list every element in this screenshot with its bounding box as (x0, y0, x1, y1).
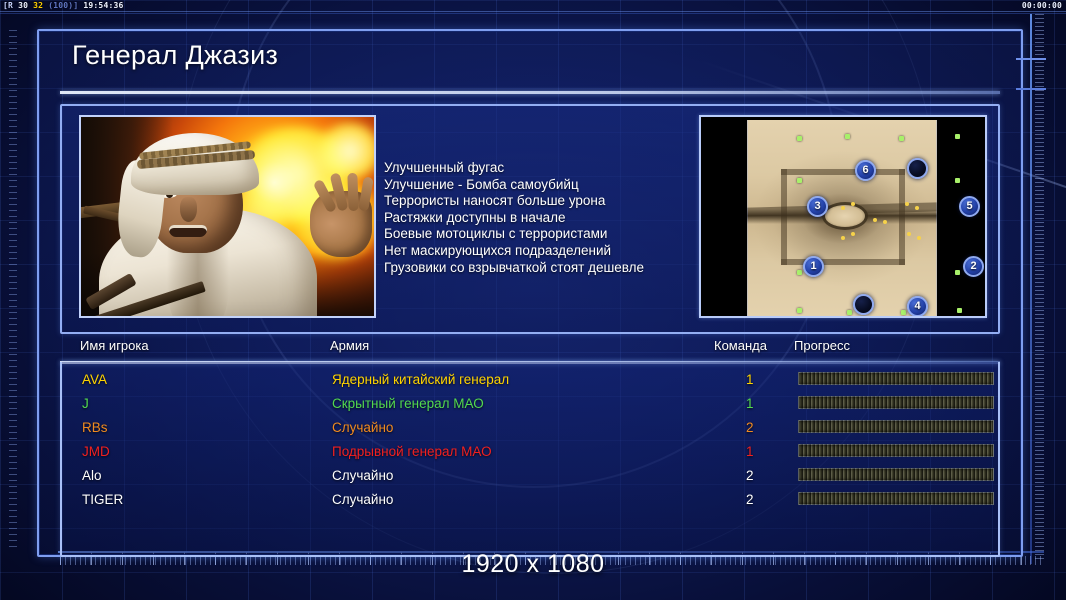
mouth (169, 225, 207, 237)
minimap-supply-dock (901, 310, 906, 315)
player-name: JMD (82, 440, 110, 464)
minimap-start-position[interactable]: 2 (963, 256, 984, 277)
minimap-oil-derrick (883, 220, 887, 224)
minimap-supply-dock (845, 134, 850, 139)
minimap-supply-dock (899, 136, 904, 141)
general-info-panel: Улучшенный фугас Улучшение - Бомба самоу… (60, 104, 1000, 334)
nose (180, 197, 197, 222)
match-minimap: 635124 (699, 115, 987, 318)
minimap-start-position[interactable] (853, 294, 874, 315)
ability-line: Грузовики со взрывчаткой стоят дешевле (384, 260, 720, 277)
left-ruler-ticks (9, 30, 17, 548)
minimap-oil-derrick (851, 202, 855, 206)
player-team: 2 (746, 416, 754, 440)
player-army: Скрытный генерал МАО (332, 392, 484, 416)
top-divider-line-secondary (0, 13, 1066, 14)
minimap-supply-dock (955, 178, 960, 183)
ability-line: Растяжки доступны в начале (384, 210, 720, 227)
right-ruler-rail (1030, 14, 1032, 564)
minimap-supply-dock (797, 136, 802, 141)
player-team: 2 (746, 464, 754, 488)
minimap-supply-dock (797, 178, 802, 183)
player-team: 1 (746, 440, 754, 464)
player-army: Случайно (332, 464, 393, 488)
player-table-body: AVAЯдерный китайский генерал1JСкрытный г… (60, 362, 1000, 557)
fire-blob (317, 123, 376, 179)
player-name: TIGER (82, 488, 123, 512)
column-header-progress: Прогресс (794, 338, 850, 353)
top-divider-line (0, 11, 1066, 12)
match-timer: 00:00:00 (1022, 1, 1062, 10)
player-army: Ядерный китайский генерал (332, 368, 509, 392)
player-progress-bar (798, 420, 994, 433)
minimap-start-position[interactable] (907, 158, 928, 179)
player-team: 1 (746, 392, 754, 416)
general-portrait (79, 115, 376, 318)
table-row[interactable]: RBsСлучайно2 (62, 416, 998, 440)
minimap-start-position[interactable]: 6 (855, 160, 876, 181)
player-progress-bar (798, 492, 994, 505)
minimap-supply-dock (847, 310, 852, 315)
general-abilities-list: Улучшенный фугас Улучшение - Бомба самоу… (384, 160, 720, 276)
minimap-supply-dock (955, 134, 960, 139)
minimap-supply-dock (957, 308, 962, 313)
minimap-oil-derrick (841, 236, 845, 240)
player-name: AVA (82, 368, 107, 392)
table-row[interactable]: TIGERСлучайно2 (62, 488, 998, 512)
player-team: 1 (746, 368, 754, 392)
frame-notch-bottom (1016, 88, 1046, 90)
minimap-start-position[interactable]: 5 (959, 196, 980, 217)
hand-finger (347, 173, 358, 211)
right-ruler-ticks (1035, 14, 1044, 560)
minimap-oil-derrick (907, 232, 911, 236)
minimap-supply-dock (797, 308, 802, 313)
player-army: Случайно (332, 488, 393, 512)
player-army: Подрывной генерал МАО (332, 440, 492, 464)
ability-line: Боевые мотоциклы с террористами (384, 226, 720, 243)
minimap-oil-derrick (873, 218, 877, 222)
game-loading-screen: [R 30 32 (100)] 19:54:36 00:00:00 Генера… (0, 0, 1066, 600)
minimap-playable-bounds (747, 120, 937, 317)
title-bar: Генерал Джазиз (60, 41, 1000, 89)
minimap-oil-derrick (841, 206, 845, 210)
ability-line: Террористы наносят больше урона (384, 193, 720, 210)
minimap-start-position[interactable]: 1 (803, 256, 824, 277)
player-progress-bar (798, 444, 994, 457)
column-header-name: Имя игрока (80, 338, 149, 353)
column-header-team: Команда (714, 338, 767, 353)
minimap-oil-derrick (905, 202, 909, 206)
page-title: Генерал Джазиз (72, 40, 278, 71)
title-underline (60, 91, 1000, 94)
table-row[interactable]: JMDПодрывной генерал МАО1 (62, 440, 998, 464)
ability-line: Нет маскирующихся подразделений (384, 243, 720, 260)
ability-line: Улучшение - Бомба самоубийц (384, 177, 720, 194)
player-army: Случайно (332, 416, 393, 440)
table-row[interactable]: AVAЯдерный китайский генерал1 (62, 368, 998, 392)
minimap-supply-dock (797, 270, 802, 275)
minimap-oil-derrick (917, 236, 921, 240)
portrait-artwork (81, 117, 374, 316)
player-name: RBs (82, 416, 108, 440)
player-table-header: Имя игрока Армия Команда Прогресс (60, 338, 1000, 360)
minimap-start-position[interactable]: 4 (907, 296, 928, 317)
player-progress-bar (798, 372, 994, 385)
resolution-label: 1920 x 1080 (0, 550, 1066, 579)
player-progress-bar (798, 396, 994, 409)
player-name: Alo (82, 464, 102, 488)
column-header-army: Армия (330, 338, 369, 353)
player-name: J (82, 392, 89, 416)
minimap-supply-dock (955, 270, 960, 275)
minimap-start-position[interactable]: 3 (807, 196, 828, 217)
table-row[interactable]: JСкрытный генерал МАО1 (62, 392, 998, 416)
table-row[interactable]: AloСлучайно2 (62, 464, 998, 488)
ability-line: Улучшенный фугас (384, 160, 720, 177)
debug-stats-overlay: [R 30 32 (100)] 19:54:36 (3, 1, 124, 10)
minimap-oil-derrick (851, 232, 855, 236)
player-team: 2 (746, 488, 754, 512)
player-progress-bar (798, 468, 994, 481)
minimap-oil-derrick (915, 206, 919, 210)
frame-notch-top (1016, 58, 1046, 60)
